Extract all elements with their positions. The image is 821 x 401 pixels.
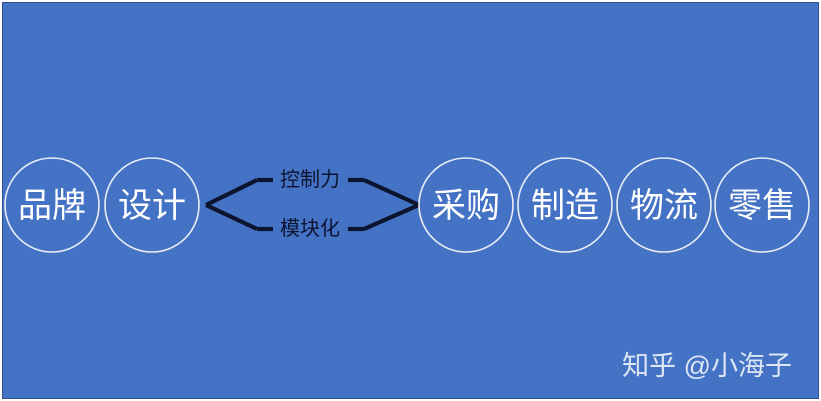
node-manufacturing-label: 制造	[531, 187, 599, 225]
node-design[interactable]: 设计	[105, 158, 199, 252]
node-procurement[interactable]: 采购	[419, 158, 513, 252]
connector-label-modularization: 模块化	[280, 217, 340, 240]
connector-left-lower-diagonal	[206, 205, 257, 229]
connector-right-lower-diagonal	[364, 205, 419, 229]
connector-left-upper-diagonal	[206, 180, 257, 205]
node-procurement-label: 采购	[432, 187, 500, 225]
connector-right-upper-diagonal	[364, 180, 419, 205]
connector-label-control: 控制力	[280, 168, 340, 191]
node-logistics[interactable]: 物流	[617, 158, 711, 252]
node-logistics-label: 物流	[630, 187, 698, 225]
node-retail-label: 零售	[728, 187, 796, 225]
node-design-label: 设计	[118, 187, 186, 225]
watermark-label: 知乎 @小海子	[622, 351, 792, 381]
node-brand-label: 品牌	[18, 187, 86, 225]
node-manufacturing[interactable]: 制造	[518, 158, 612, 252]
connector-left-fan	[206, 180, 273, 229]
value-chain-diagram: 控制力 模块化 品牌 设计 采购 制造 物流 零售 知乎 @小海	[0, 0, 821, 401]
slide-canvas: 控制力 模块化 品牌 设计 采购 制造 物流 零售 知乎 @小海	[0, 0, 821, 401]
node-brand[interactable]: 品牌	[5, 158, 99, 252]
connector-right-fan	[348, 180, 419, 229]
node-retail[interactable]: 零售	[715, 158, 809, 252]
